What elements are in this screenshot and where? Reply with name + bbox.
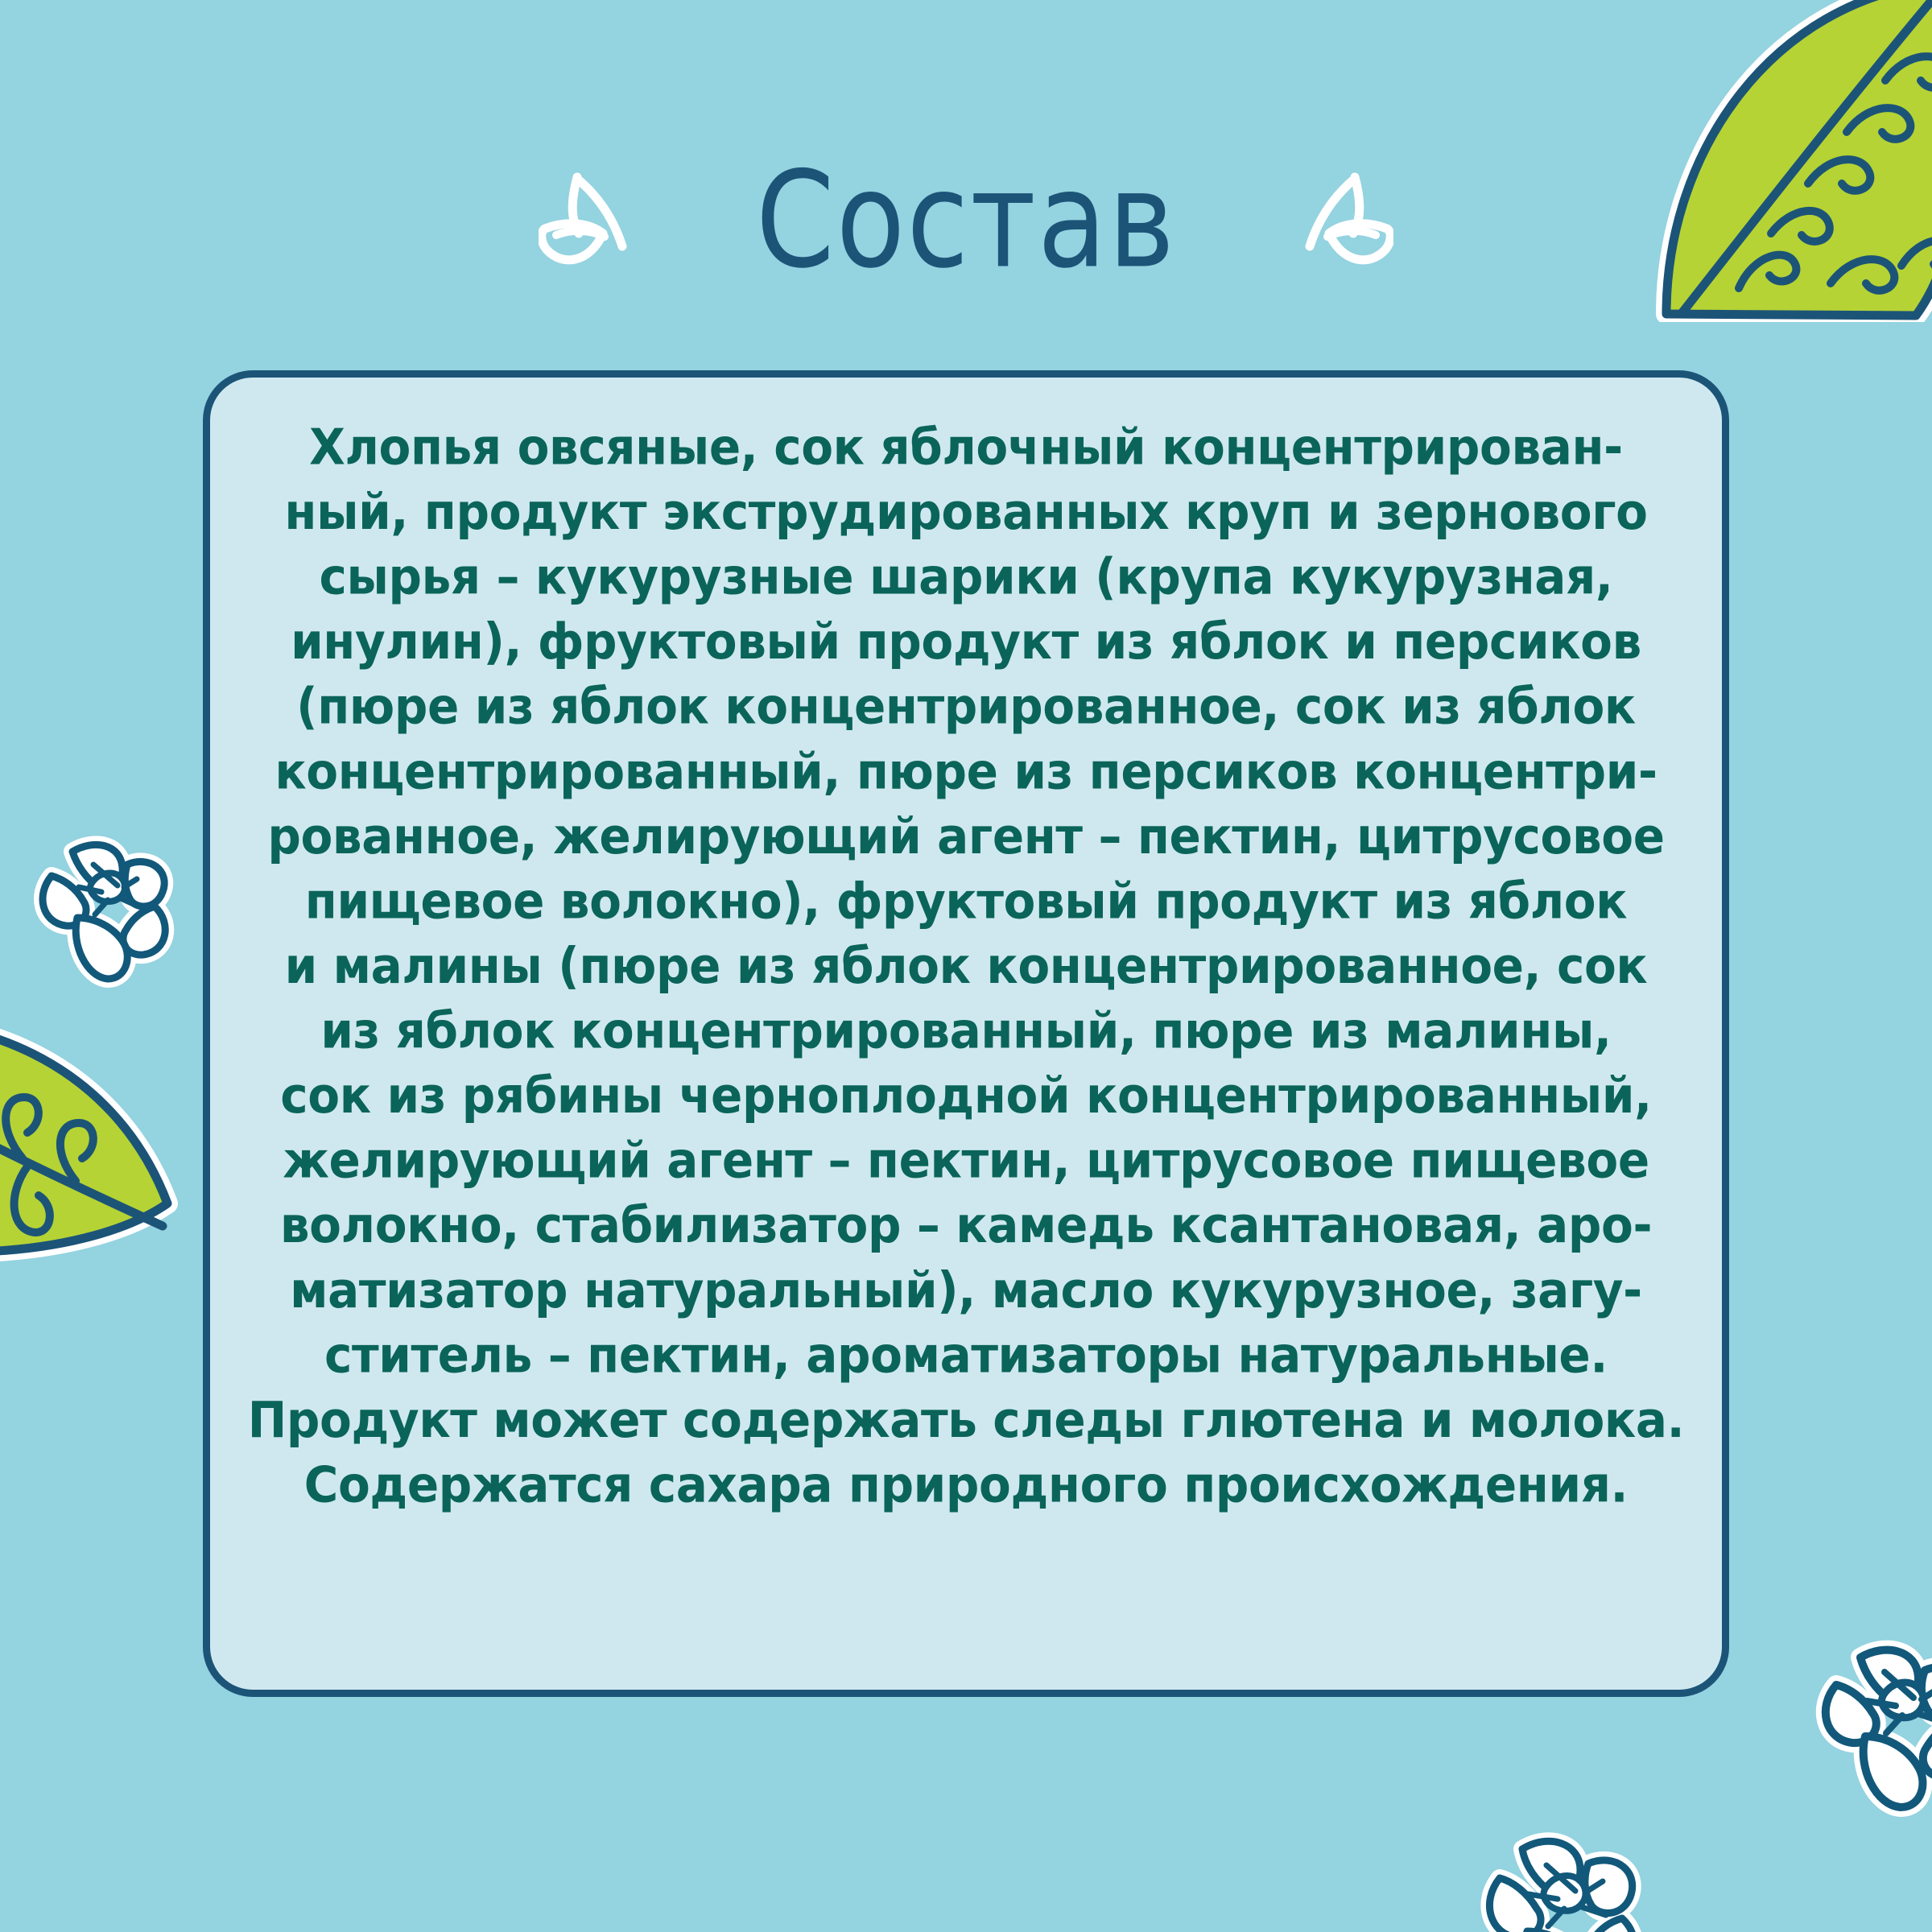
ingredients-text: Хлопья овсяные, сок яблочный концентриро…	[210, 415, 1722, 1517]
page-title: Состав	[756, 155, 1176, 287]
ingredients-panel: Хлопья овсяные, сок яблочный концентриро…	[203, 370, 1729, 1697]
flower-icon-right	[1807, 1638, 1932, 1839]
flourish-right-icon	[1241, 169, 1393, 274]
title-row: Состав	[0, 153, 1932, 290]
flower-icon-left	[24, 829, 185, 998]
flower-icon-bottom	[1477, 1831, 1658, 1932]
leaf-icon-left	[0, 1002, 185, 1268]
flourish-left-icon	[539, 169, 691, 274]
poster-canvas: Состав Хлопья овсяные, сок яблочный конц…	[0, 0, 1932, 1932]
